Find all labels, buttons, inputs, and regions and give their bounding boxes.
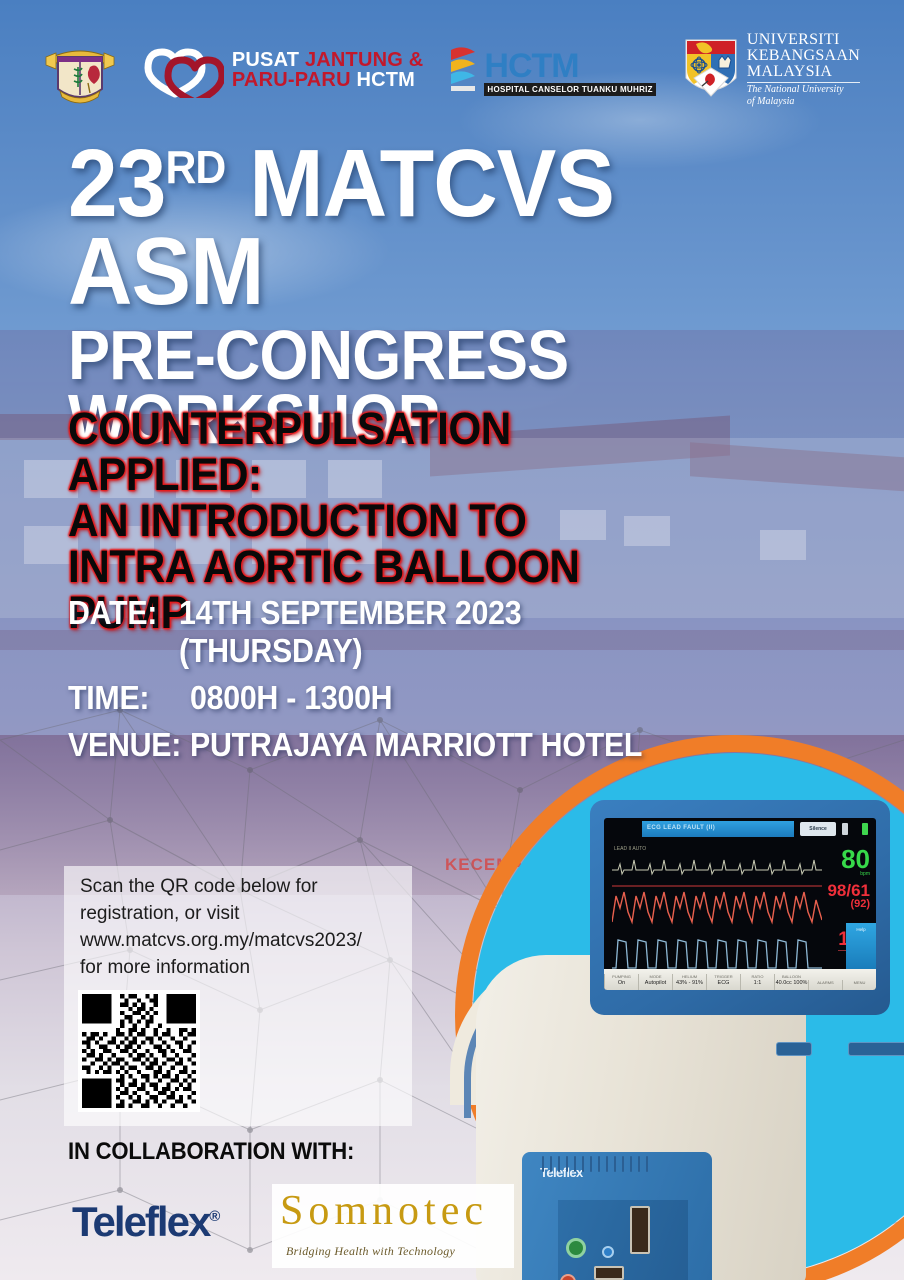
somnotec-logo: Somnotec Bridging Health with Technology [272,1184,514,1268]
status-cell-alarms[interactable]: ALARMS [808,980,842,990]
subtitle-line-1: COUNTERPULSATION APPLIED: [68,406,707,498]
ukm-crest-icon [682,34,740,106]
registered-trademark-icon: ® [209,1208,220,1225]
ukm-line-1: UNIVERSITI [747,32,860,48]
status-cell-menu[interactable]: MENU [842,980,876,990]
monitor-transport-buttons[interactable] [848,1042,904,1056]
somnotec-wordmark: Somnotec [280,1190,488,1232]
time-label: TIME: [68,679,180,717]
monitor-help-tab[interactable]: Help [846,923,876,969]
title-line-1: 23RD MATCVS ASM [68,140,812,317]
event-details: DATE: 14TH SEPTEMBER 2023 (THURSDAY) TIM… [68,594,708,773]
battery-icon-1 [842,823,848,835]
hctm-wordmark: HCTM [484,50,655,82]
teleflex-wordmark: Teleflex [72,1198,209,1245]
ecg-waveform [612,852,822,878]
ukm-tagline: The National University of Malaysia [747,82,860,107]
blood-pressure-readout: 98/61 (92) [827,882,870,910]
helium-port[interactable] [630,1206,650,1254]
header-logo-row: PUSAT JANTUNG & PARU-PARU HCTM HCTM HOSP… [0,22,904,117]
hctm-ribbon-icon [449,44,479,96]
ukm-wordmark: UNIVERSITI KEBANGSAAN MALAYSIA The Natio… [747,32,860,108]
detail-row-time: TIME: 0800H - 1300H [68,679,708,717]
heart-rate-readout: 80 bpm [841,846,870,877]
registration-qr-code[interactable] [78,990,200,1112]
balloon-pressure-waveform [612,930,822,972]
iabp-monitor-shell: ECG LEAD FAULT (II) Silence LEAD II AUTO [590,800,890,1015]
arterial-pressure-waveform [612,882,822,926]
collaboration-label: IN COLLABORATION WITH: [68,1138,354,1166]
status-cell-mode[interactable]: MODE Autopilot [638,974,672,990]
pressure-jack[interactable] [602,1246,614,1258]
pusat-jantung-paru-hctm-logo: PUSAT JANTUNG & PARU-PARU HCTM [142,42,424,98]
registration-url[interactable]: www.matcvs.org.my/matcvs2023/ [80,928,380,955]
registration-line-1: Scan the QR code below for [80,874,380,901]
venue-value: PUTRAJAYA MARRIOTT HOTEL [190,726,642,764]
status-cell-balloon[interactable]: BALLOON 40.0cc 100% [774,974,808,990]
status-cell-ratio[interactable]: RATIO 1:1 [740,974,774,990]
matcvs-crest-logo [44,29,116,111]
registration-line-4: for more information [80,955,380,982]
status-cell-pumping[interactable]: PUMPING On [604,974,638,990]
interlocking-hearts-icon [142,42,224,98]
ukm-logo: UNIVERSITI KEBANGSAAN MALAYSIA The Natio… [682,32,860,108]
date-label: DATE: [68,594,170,632]
iabp-connector-plate [558,1200,688,1280]
monitor-status-bar: PUMPING On MODE Autopilot HELIUM 43% - 9… [604,969,876,990]
serial-port[interactable] [594,1266,624,1280]
monitor-silence-button[interactable]: Silence [800,822,836,836]
monitor-nav-button-left[interactable] [776,1042,812,1056]
detail-row-venue: VENUE: PUTRAJAYA MARRIOTT HOTEL [68,726,708,764]
hctm-subtitle: HOSPITAL CANSELOR TUANKU MUHRIZ [484,83,655,96]
hctm-logo: HCTM HOSPITAL CANSELOR TUANKU MUHRIZ [449,44,655,96]
ecg-jack[interactable] [566,1238,586,1258]
subtitle-line-2: AN INTRODUCTION TO [68,498,707,544]
teleflex-logo: Teleflex® [72,1198,220,1246]
registration-text: Scan the QR code below for registration,… [80,874,380,982]
title-ordinal-suffix: RD [165,141,225,193]
iabp-monitor-screen: ECG LEAD FAULT (II) Silence LEAD II AUTO [604,818,876,990]
venue-label: VENUE: [68,726,180,764]
time-value: 0800H - 1300H [190,679,392,717]
ukm-line-2: KEBANGSAAN [747,48,860,64]
iabp-teleflex-brand: Teleflex [540,1165,583,1180]
matcvs-crest-icon [44,29,116,111]
battery-icon-2 [862,823,868,835]
status-cell-trigger[interactable]: TRIGGER ECG [706,974,740,990]
ukm-line-3: MALAYSIA [747,64,860,80]
monitor-button-row [762,1042,904,1058]
poster-root: KECEMA [0,0,904,1280]
date-value: 14TH SEPTEMBER 2023 (THURSDAY) [179,594,666,670]
alarm-jack[interactable] [560,1274,576,1280]
pusat-jantung-wordmark: PUSAT JANTUNG & PARU-PARU HCTM [232,50,424,90]
status-cell-helium[interactable]: HELIUM 43% - 91% [672,974,706,990]
detail-row-date: DATE: 14TH SEPTEMBER 2023 (THURSDAY) [68,594,708,670]
monitor-alarm-titlebar: ECG LEAD FAULT (II) [642,821,794,837]
registration-line-2: registration, or visit [80,901,380,928]
somnotec-tagline: Bridging Health with Technology [286,1244,455,1259]
